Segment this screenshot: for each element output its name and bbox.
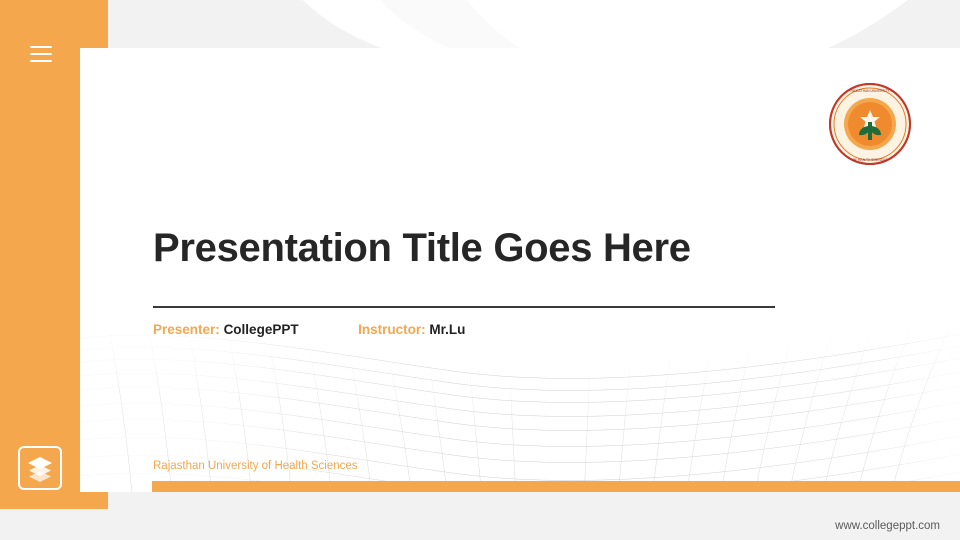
- instructor-value: Mr.Lu: [429, 322, 465, 337]
- organization-name: Rajasthan University of Health Sciences: [153, 460, 358, 472]
- hamburger-line: [30, 60, 52, 62]
- svg-text:RAJASTHAN UNIVERSITY: RAJASTHAN UNIVERSITY: [851, 89, 891, 93]
- presenter-value: CollegePPT: [224, 322, 299, 337]
- title-divider: [153, 306, 775, 308]
- presenter-label: Presenter:: [153, 322, 220, 337]
- hamburger-line: [30, 53, 52, 55]
- page-title: Presentation Title Goes Here: [153, 226, 853, 270]
- svg-text:OF HEALTH SCIENCES: OF HEALTH SCIENCES: [853, 158, 888, 162]
- presenter-meta: Presenter: CollegePPT Instructor: Mr.Lu: [153, 322, 853, 337]
- slide-accent-strip: [152, 481, 960, 492]
- website-footer: www.collegeppt.com: [835, 520, 940, 532]
- slide-viewer: RAJASTHAN UNIVERSITY OF HEALTH SCIENCES …: [0, 0, 960, 540]
- university-seal-icon: RAJASTHAN UNIVERSITY OF HEALTH SCIENCES: [828, 82, 912, 166]
- hamburger-line: [30, 46, 52, 48]
- rail-bottom-spacer: [0, 509, 108, 540]
- instructor-label: Instructor:: [358, 322, 426, 337]
- hamburger-icon[interactable]: [30, 46, 52, 64]
- slide-canvas: RAJASTHAN UNIVERSITY OF HEALTH SCIENCES …: [80, 48, 960, 492]
- layers-logo-icon[interactable]: [18, 446, 62, 490]
